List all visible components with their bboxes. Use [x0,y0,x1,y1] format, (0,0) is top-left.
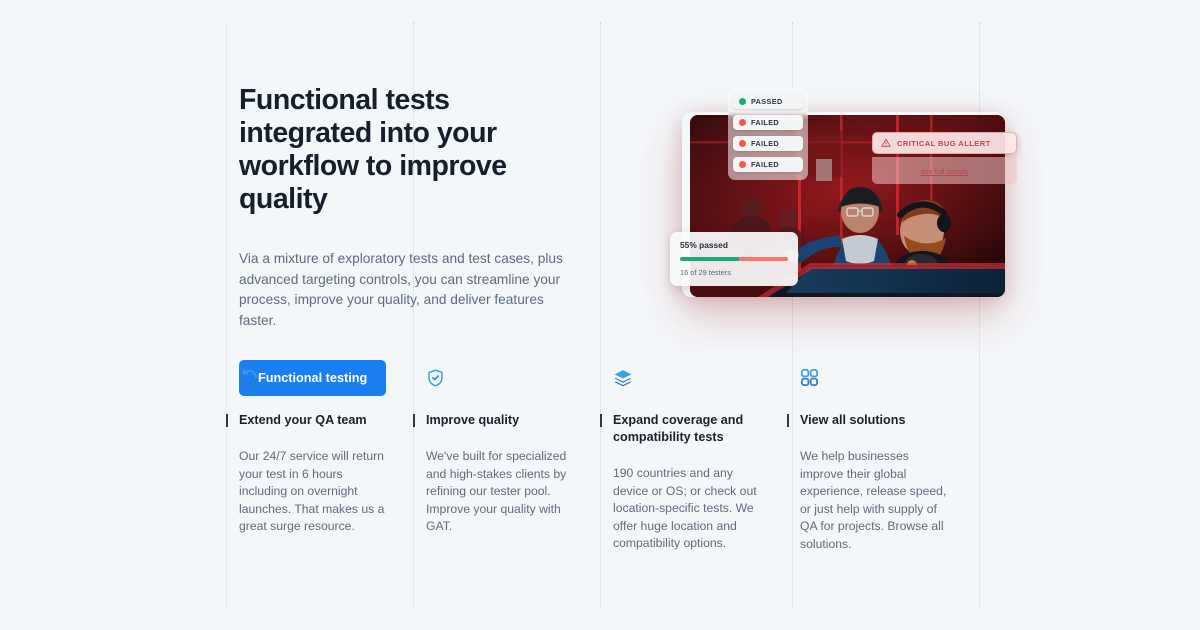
status-chip-label: PASSED [751,97,783,106]
feature-accent-bar [600,414,602,427]
critical-bug-alert: CRITICAL BUG ALLERT see full details [872,132,1017,184]
feature-card-extend-qa-team[interactable]: Extend your QA team Our 24/7 service wil… [226,368,413,553]
pass-rate-card: 55% passed 16 of 29 testers [670,232,798,286]
layers-stack-icon [613,368,762,390]
status-dot-failed-icon [739,119,746,126]
pass-rate-title: 55% passed [680,240,788,250]
grid-four-dots-icon [800,368,949,390]
feature-title: View all solutions [800,412,905,429]
status-chip[interactable]: PASSED [733,94,803,109]
warning-triangle-icon [881,138,891,148]
feature-card-expand-coverage[interactable]: Expand coverage and compatibility tests … [600,368,787,553]
status-chip-label: FAILED [751,139,779,148]
pass-rate-progressbar [680,257,788,261]
feature-card-improve-quality[interactable]: Improve quality We've built for speciali… [413,368,600,553]
hero-subtitle: Via a mixture of exploratory tests and t… [239,249,564,331]
hero-section: Functional tests integrated into your wo… [239,84,579,396]
refresh-sync-icon [239,368,388,390]
pass-rate-remainder [739,257,788,261]
feature-accent-bar [413,414,415,427]
feature-title: Improve quality [426,412,519,429]
status-dot-passed-icon [739,98,746,105]
page-title: Functional tests integrated into your wo… [239,84,579,216]
feature-body: 190 countries and any device or OS; or c… [613,465,762,553]
feature-body: We've built for specialized and high-sta… [426,448,575,536]
feature-body: We help businesses improve their global … [800,448,949,553]
status-chip[interactable]: FAILED [733,115,803,130]
pass-rate-note: 16 of 29 testers [680,268,788,277]
status-chip[interactable]: FAILED [733,136,803,151]
feature-accent-bar [226,414,228,427]
alert-text: CRITICAL BUG ALLERT [897,139,991,148]
feature-title: Extend your QA team [239,412,367,429]
feature-columns: Extend your QA team Our 24/7 service wil… [226,368,980,553]
feature-body: Our 24/7 service will return your test i… [239,448,388,536]
feature-title: Expand coverage and compatibility tests [613,412,762,446]
see-full-details-link[interactable]: see full details [920,167,968,176]
alert-bar[interactable]: CRITICAL BUG ALLERT [872,132,1017,154]
status-chip-label: FAILED [751,160,779,169]
feature-accent-bar [787,414,789,427]
status-dot-failed-icon [739,161,746,168]
status-dot-failed-icon [739,140,746,147]
feature-card-view-all-solutions[interactable]: View all solutions We help businesses im… [787,368,974,553]
status-chip[interactable]: FAILED [733,157,803,172]
media-illustration: PASSED FAILED FAILED FAILED CRITICAL BUG… [660,80,1030,320]
alert-link-row: see full details [872,157,1017,184]
test-status-list: PASSED FAILED FAILED FAILED [728,88,808,180]
shield-check-icon [426,368,575,390]
status-chip-label: FAILED [751,118,779,127]
pass-rate-fill [680,257,739,261]
